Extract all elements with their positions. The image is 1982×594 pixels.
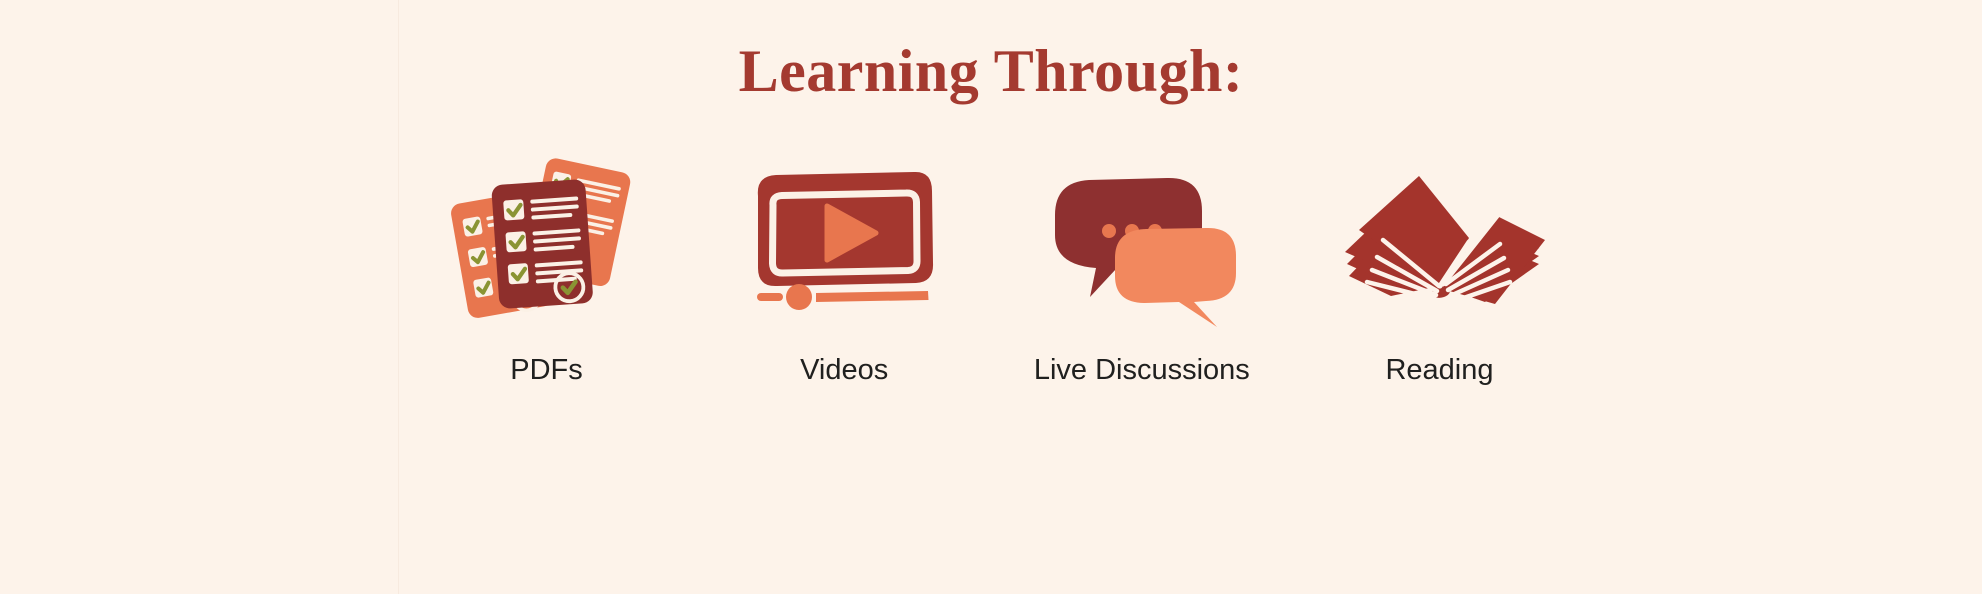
documents-checklist-icon — [432, 160, 662, 325]
open-book-icon — [1324, 160, 1554, 325]
speech-bubbles-icon — [1027, 160, 1257, 325]
learning-mode-reading[interactable]: Reading — [1291, 160, 1588, 387]
learning-mode-live-discussions[interactable]: Live Discussions — [993, 160, 1290, 387]
page-title: Learning Through: — [0, 36, 1982, 106]
learning-modes-list: PDFs Videos — [398, 160, 1588, 400]
video-player-icon — [729, 160, 959, 325]
learning-mode-label: Videos — [800, 353, 888, 387]
learning-mode-pdfs[interactable]: PDFs — [398, 160, 695, 387]
learning-mode-label: Live Discussions — [1034, 353, 1250, 387]
learning-mode-label: Reading — [1385, 353, 1493, 387]
learning-mode-label: PDFs — [510, 353, 583, 387]
learning-through-section: Learning Through: — [0, 0, 1982, 594]
learning-mode-videos[interactable]: Videos — [696, 160, 993, 387]
